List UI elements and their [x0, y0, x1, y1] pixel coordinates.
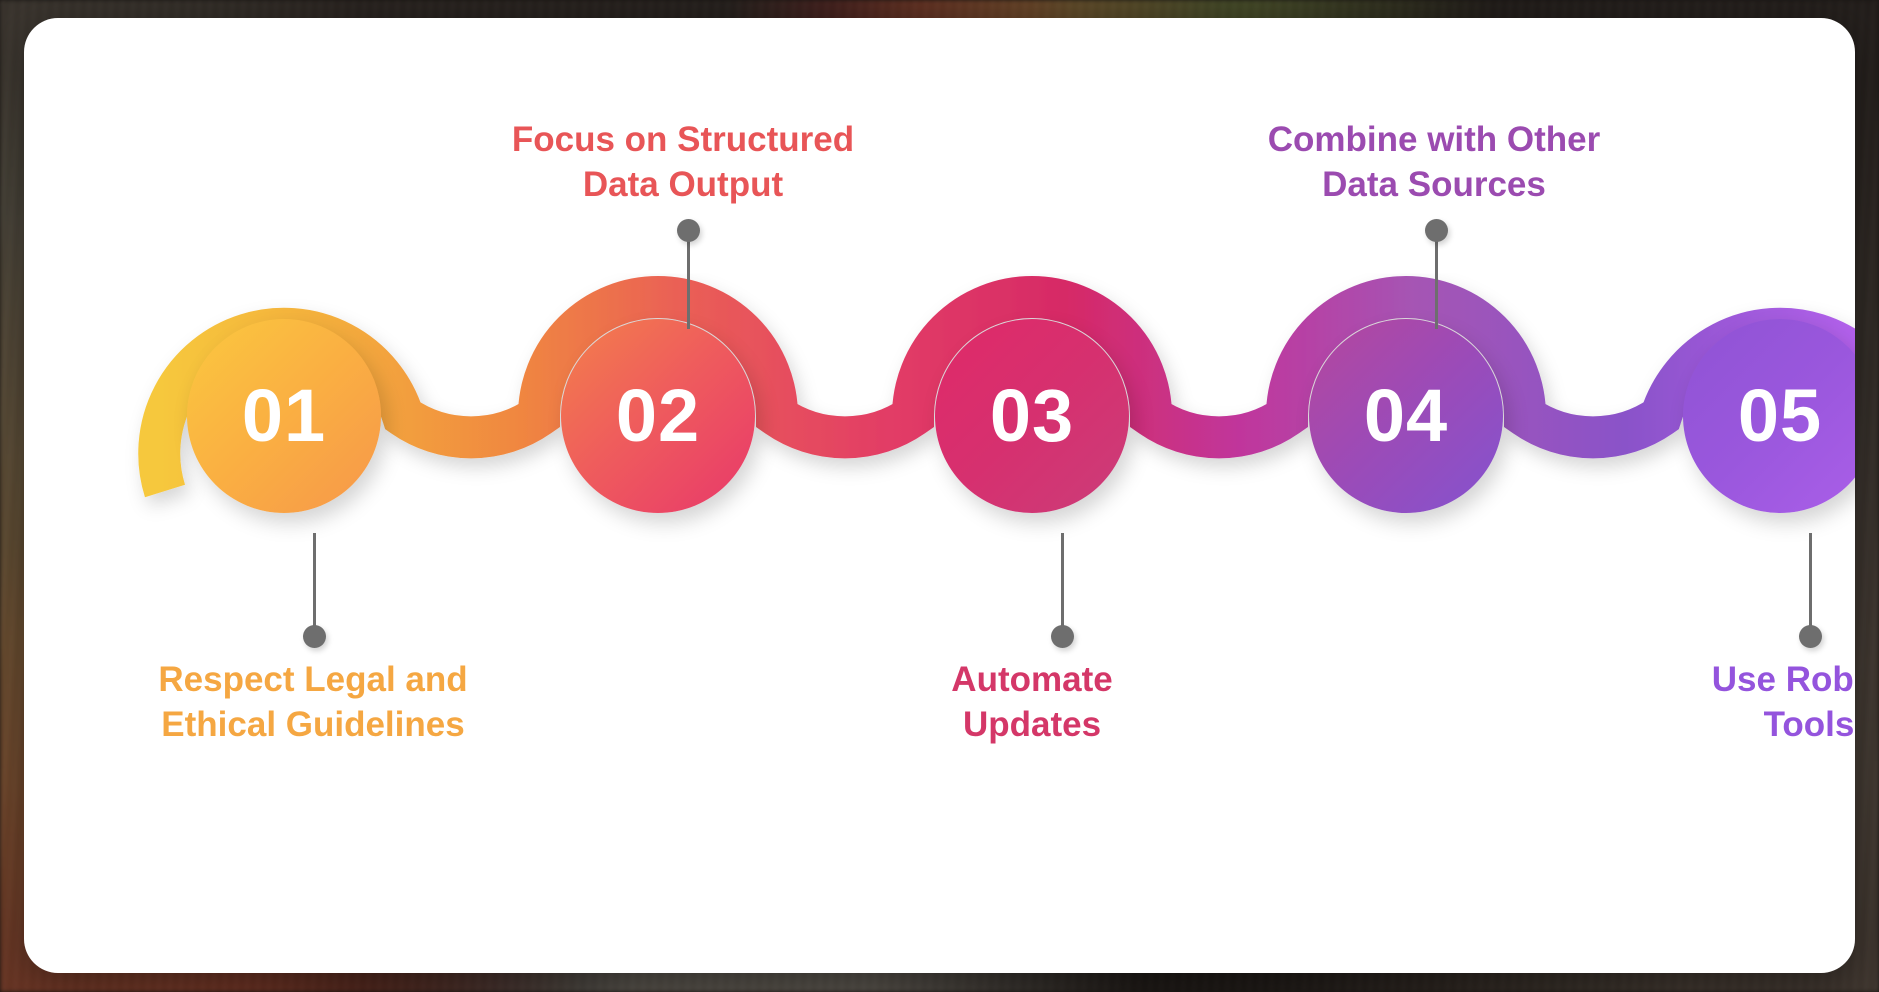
step-label-03: Automate Updates	[876, 658, 1188, 748]
step-number-03: 03	[990, 379, 1074, 453]
step-number-01: 01	[242, 379, 326, 453]
step-label-05: Use Robust Tools	[1646, 658, 1855, 748]
connector-line-04	[1435, 241, 1438, 329]
connector-dot-04	[1425, 219, 1448, 242]
step-number-04: 04	[1364, 379, 1448, 453]
step-circle-01[interactable]: 01	[187, 319, 381, 513]
step-label-02: Focus on Structured Data Output	[448, 118, 918, 208]
connector-line-05	[1809, 533, 1812, 633]
connector-line-01	[313, 533, 316, 633]
connector-dot-03	[1051, 625, 1074, 648]
step-number-05: 05	[1738, 379, 1822, 453]
step-label-01: Respect Legal and Ethical Guidelines	[98, 658, 528, 748]
step-circle-03[interactable]: 03	[935, 319, 1129, 513]
connector-dot-02	[677, 219, 700, 242]
connector-line-02	[687, 241, 690, 329]
step-label-04: Combine with Other Data Sources	[1204, 118, 1664, 208]
connector-line-03	[1061, 533, 1064, 633]
step-circle-02[interactable]: 02	[561, 319, 755, 513]
connector-dot-01	[303, 625, 326, 648]
diagram-stage: 01 Respect Legal and Ethical Guidelines …	[24, 18, 1855, 973]
connector-dot-05	[1799, 625, 1822, 648]
step-circle-05[interactable]: 05	[1683, 319, 1855, 513]
infographic-card: 01 Respect Legal and Ethical Guidelines …	[24, 18, 1855, 973]
step-circle-04[interactable]: 04	[1309, 319, 1503, 513]
step-number-02: 02	[616, 379, 700, 453]
